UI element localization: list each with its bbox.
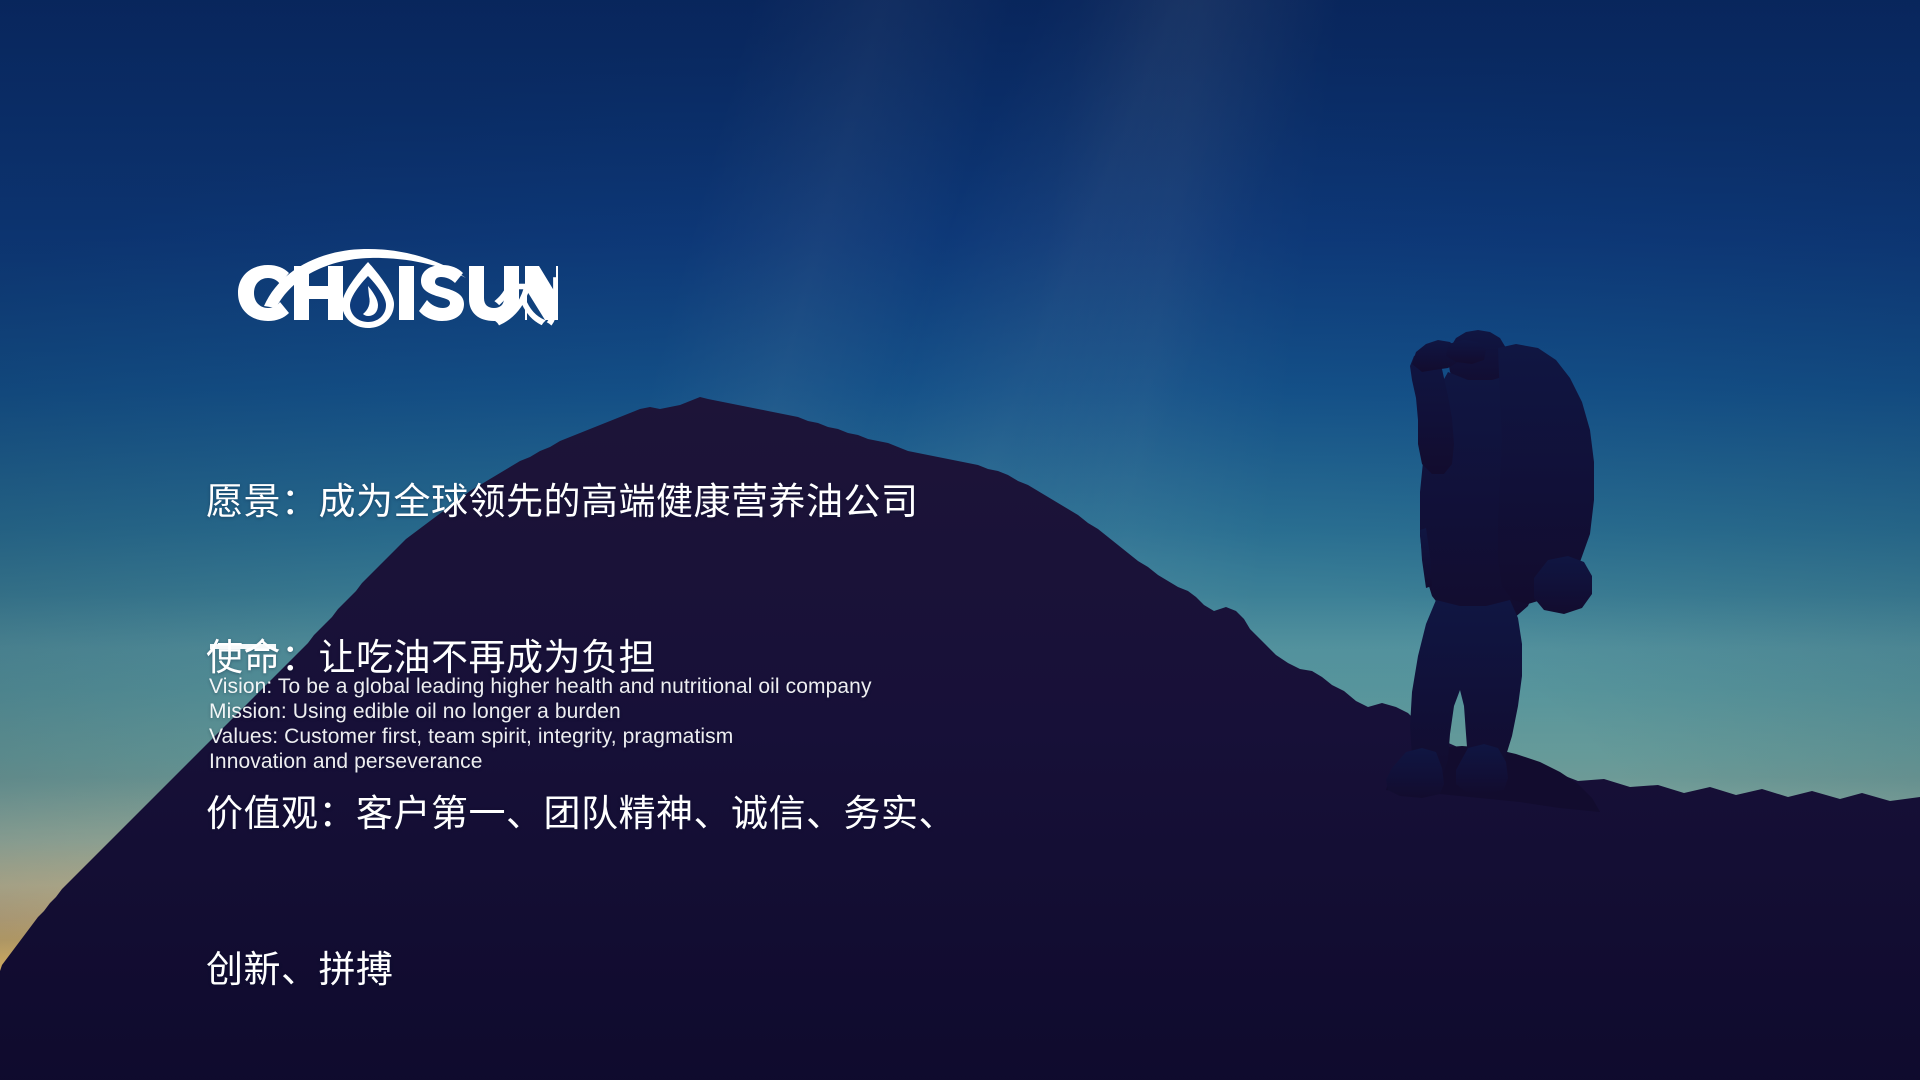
values-line-cn: 价值观：客户第一、团队精神、诚信、务实、 xyxy=(206,788,1106,840)
slide-canvas: 久晟 愿景：成为全球领先的高端健康营养油公司 使命：让吃油不再成为负担 价值观：… xyxy=(0,0,1920,1080)
values-line-en-cont: Innovation and perseverance xyxy=(209,749,1109,774)
vision-line-en: Vision: To be a global leading higher he… xyxy=(209,674,1109,699)
vision-line-cn: 愿景：成为全球领先的高端健康营养油公司 xyxy=(206,476,1106,528)
choisun-logo[interactable]: 久晟 xyxy=(208,248,558,343)
english-statement-block: Vision: To be a global leading higher he… xyxy=(209,674,1109,774)
values-line-cn-cont: 创新、拼搏 xyxy=(206,944,1106,996)
hiker-silhouette xyxy=(1386,330,1594,798)
logo-cn-wordmark: 久晟 xyxy=(494,273,558,333)
logo-artwork: 久晟 xyxy=(208,248,558,343)
mission-line-en: Mission: Using edible oil no longer a bu… xyxy=(209,699,1109,724)
section-divider xyxy=(210,644,276,649)
values-line-en: Values: Customer first, team spirit, int… xyxy=(209,724,1109,749)
oil-drop-icon xyxy=(342,262,394,328)
